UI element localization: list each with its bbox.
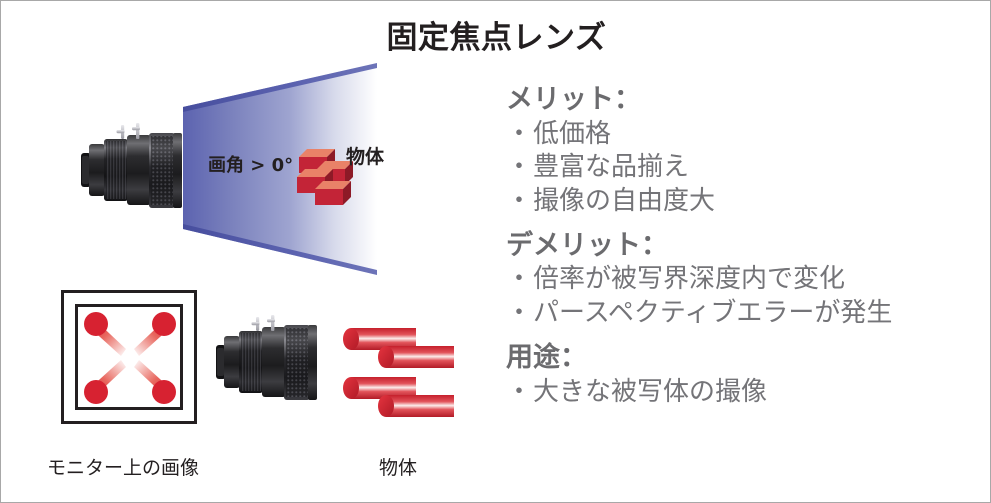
section-item: ・撮像の自由度大 — [506, 185, 976, 219]
item-text: 豊富な品揃え — [533, 152, 689, 182]
caption-monitor-image: モニター上の画像 — [47, 453, 199, 480]
item-text: パースペクティブエラーが発生 — [533, 298, 892, 328]
section-heading: メリット： — [506, 83, 976, 118]
spec-text-panel: メリット： ・低価格 ・豊富な品揃え ・撮像の自由度大 デメリット： ・倍率が被… — [506, 83, 976, 419]
bullet-icon: ・ — [506, 152, 533, 182]
item-text: 大きな被写体の撮像 — [533, 377, 767, 407]
monitor-frame — [61, 290, 197, 424]
section-demerits: デメリット： ・倍率が被写界深度内で変化 ・パースペクティブエラーが発生 — [506, 229, 976, 331]
section-merits: メリット： ・低価格 ・豊富な品揃え ・撮像の自由度大 — [506, 83, 976, 219]
item-text: 低価格 — [533, 119, 611, 149]
monitor-screen — [75, 304, 183, 410]
bullet-icon: ・ — [506, 119, 533, 149]
section-item: ・大きな被写体の撮像 — [506, 376, 976, 410]
item-text: 撮像の自由度大 — [533, 186, 715, 216]
camera-lens-top — [80, 123, 190, 219]
section-applications: 用途： ・大きな被写体の撮像 — [506, 341, 976, 409]
section-item: ・豊富な品揃え — [506, 151, 976, 185]
bullet-icon: ・ — [506, 298, 533, 328]
section-heading: デメリット： — [506, 229, 976, 264]
section-item: ・低価格 — [506, 118, 976, 152]
bullet-icon: ・ — [506, 186, 533, 216]
bullet-icon: ・ — [506, 377, 533, 407]
caption-object: 物体 — [379, 453, 417, 480]
item-text: 倍率が被写界深度内で変化 — [533, 264, 845, 294]
section-item: ・パースペクティブエラーが発生 — [506, 297, 976, 331]
field-angle-label: 画角 > 0° — [208, 151, 293, 177]
section-item: ・倍率が被写界深度内で変化 — [506, 263, 976, 297]
object-label-top: 物体 — [346, 142, 384, 169]
slide-canvas: 固定焦点レンズ — [0, 0, 991, 503]
bullet-icon: ・ — [506, 264, 533, 294]
page-title: 固定焦点レンズ — [1, 12, 991, 57]
section-heading: 用途： — [506, 341, 976, 376]
camera-lens-bottom — [215, 315, 325, 411]
object-tubes — [341, 319, 467, 419]
